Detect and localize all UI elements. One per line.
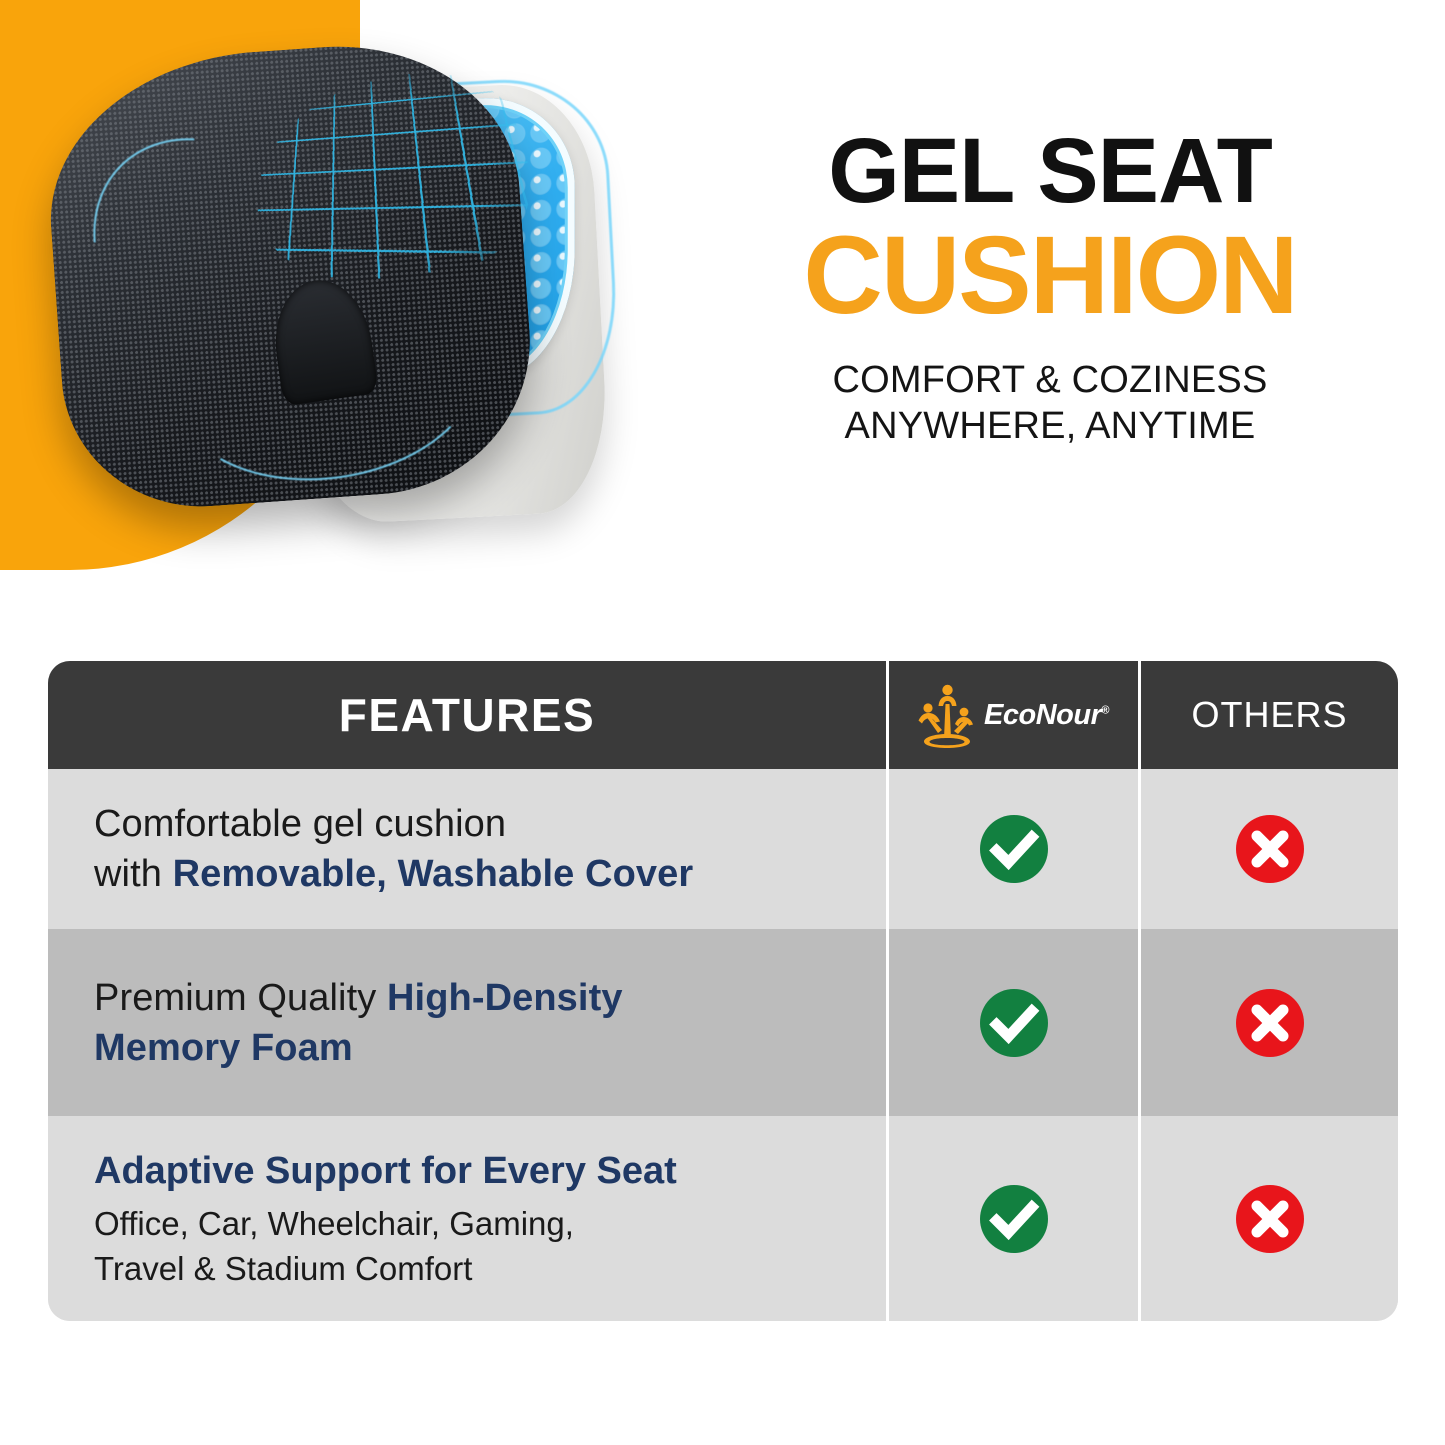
feature-text-line2: Memory Foam <box>94 1023 846 1073</box>
feature-text-lead: Premium Quality <box>94 977 387 1019</box>
brand-mark-cell <box>886 929 1138 1116</box>
brand-mark-cell <box>886 1116 1138 1321</box>
feature-text-lead: with <box>94 853 173 895</box>
table-header-row: FEATURES <box>48 661 1398 769</box>
econour-wordmark-text: EcoNour <box>984 699 1101 731</box>
feature-cell: Premium Quality High-Density Memory Foam <box>48 929 886 1116</box>
cross-icon <box>1233 986 1307 1060</box>
econour-wordmark: EcoNour® <box>984 699 1109 732</box>
others-mark-cell <box>1138 929 1398 1116</box>
feature-heading: Adaptive Support for Every Seat <box>94 1147 846 1196</box>
table-header-features: FEATURES <box>48 661 886 769</box>
feature-text-line1: Premium Quality High-Density <box>94 973 846 1023</box>
feature-subtext-line1: Office, Car, Wheelchair, Gaming, <box>94 1202 846 1247</box>
check-icon <box>977 1182 1051 1256</box>
feature-text-line1: Comfortable gel cushion <box>94 799 846 849</box>
hero-section: GEL SEAT CUSHION COMFORT & COZINESS ANYW… <box>0 0 1445 630</box>
feature-cell: Comfortable gel cushion with Removable, … <box>48 769 886 929</box>
feature-cell: Adaptive Support for Every Seat Office, … <box>48 1116 886 1321</box>
feature-text-bold-line2: Memory Foam <box>94 1027 353 1069</box>
brand-mark-cell <box>886 769 1138 929</box>
others-mark-cell <box>1138 769 1398 929</box>
feature-subtext-line2: Travel & Stadium Comfort <box>94 1247 846 1292</box>
others-mark-cell <box>1138 1116 1398 1321</box>
econour-logo: EcoNour® <box>918 682 1109 748</box>
table-row: Adaptive Support for Every Seat Office, … <box>48 1116 1398 1321</box>
registered-trademark-symbol: ® <box>1101 704 1109 716</box>
product-image <box>55 30 695 530</box>
product-title-line2: CUSHION <box>700 221 1400 331</box>
econour-tree-people-icon <box>918 682 976 748</box>
table-row: Comfortable gel cushion with Removable, … <box>48 769 1398 929</box>
subtitle-line2: ANYWHERE, ANYTIME <box>700 403 1400 449</box>
product-subtitle: COMFORT & COZINESS ANYWHERE, ANYTIME <box>700 357 1400 450</box>
cross-icon <box>1233 812 1307 886</box>
table-header-others: OTHERS <box>1138 661 1398 769</box>
table-row: Premium Quality High-Density Memory Foam <box>48 929 1398 1116</box>
feature-text-bold: Removable, Washable Cover <box>173 853 694 895</box>
features-column-label: FEATURES <box>339 688 596 742</box>
cross-icon <box>1233 1182 1307 1256</box>
comparison-table: FEATURES <box>48 661 1398 1321</box>
check-icon <box>977 986 1051 1060</box>
check-icon <box>977 812 1051 886</box>
subtitle-line1: COMFORT & COZINESS <box>700 357 1400 403</box>
feature-text-line2: with Removable, Washable Cover <box>94 849 846 899</box>
table-header-brand: EcoNour® <box>886 661 1138 769</box>
feature-text-bold: High-Density <box>387 977 623 1019</box>
others-column-label: OTHERS <box>1191 694 1347 736</box>
hero-text-block: GEL SEAT CUSHION COMFORT & COZINESS ANYW… <box>700 125 1400 450</box>
product-title-line1: GEL SEAT <box>700 125 1400 217</box>
